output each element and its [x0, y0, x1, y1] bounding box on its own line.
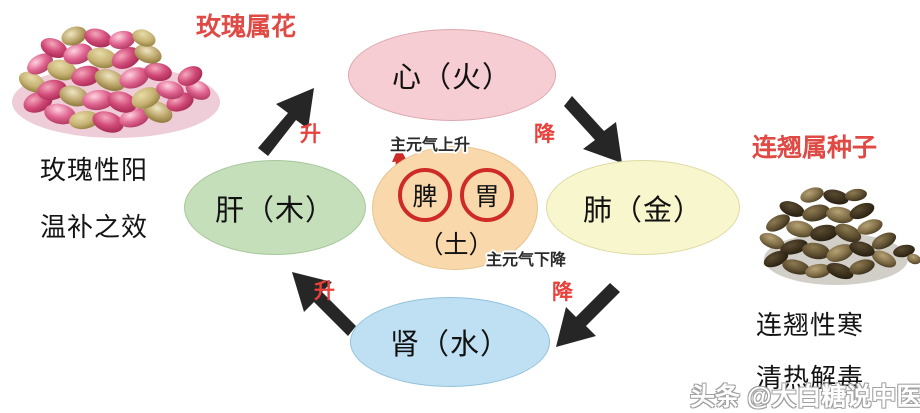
- qi-descend-label: 主元气下降: [486, 246, 566, 270]
- rose-property-line-2: 温补之效: [40, 207, 148, 244]
- qi-ascend-label: 主元气上升: [390, 131, 470, 155]
- organ-liver: 肝（木）: [184, 160, 366, 255]
- forsythia-property-line-1: 连翘性寒: [756, 305, 864, 342]
- forsythia-headline: 连翘属种子: [752, 128, 877, 164]
- organ-lung: 肺（金）: [546, 160, 740, 255]
- arrow-heart-to-lung: [564, 96, 622, 163]
- organ-lung-label: 肺（金）: [583, 187, 703, 229]
- rose-headline: 玫瑰属花: [196, 7, 296, 43]
- cycle-label-bottom-left: 升: [314, 275, 335, 305]
- center-organ-pair: 脾 胃: [392, 168, 520, 222]
- cycle-label-top-left: 升: [300, 118, 321, 148]
- organ-liver-label: 肝（木）: [215, 187, 335, 229]
- stomach-label: 胃: [474, 177, 499, 213]
- forsythia-seeds-photo: [758, 163, 920, 293]
- spleen-label: 脾: [412, 177, 437, 213]
- cycle-label-top-right: 降: [534, 118, 555, 148]
- cycle-label-bottom-right: 降: [552, 276, 573, 306]
- spleen-circled: 脾: [398, 168, 452, 222]
- diagram-canvas: 心（火） 肝（木） 肺（金） 肾（水） 脾 胃 （土） 主元气上升 主元气下降 …: [0, 0, 920, 413]
- organ-heart: 心（火）: [348, 29, 556, 121]
- organ-kidney: 肾（水）: [350, 297, 550, 387]
- rose-property-line-1: 玫瑰性阳: [40, 150, 148, 187]
- organ-heart-label: 心（火）: [392, 54, 512, 96]
- stomach-circled: 胃: [460, 168, 514, 222]
- dried-rose-buds-photo: [8, 10, 224, 150]
- watermark: 头条 @大白糖说中医: [690, 377, 920, 413]
- organ-kidney-label: 肾（水）: [390, 321, 510, 363]
